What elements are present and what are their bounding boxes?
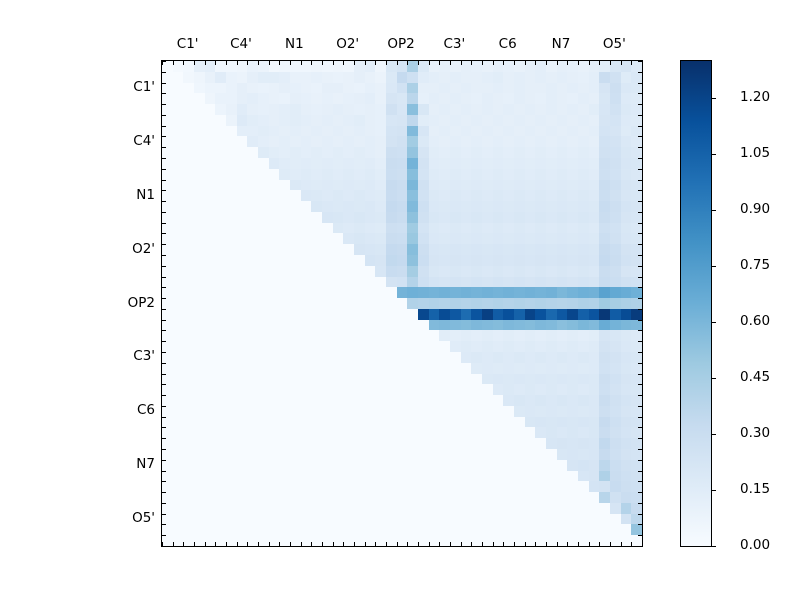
heatmap-cell: [418, 503, 429, 514]
heatmap-cell: [205, 514, 216, 525]
heatmap-cell: [269, 524, 280, 535]
heatmap-cell: [194, 417, 205, 428]
heatmap-cell: [418, 384, 429, 395]
heatmap-cell: [407, 255, 418, 266]
heatmap-cell: [631, 93, 642, 104]
x-tick: [183, 542, 184, 546]
heatmap-cell: [503, 395, 514, 406]
heatmap-cell: [610, 330, 621, 341]
heatmap-cell: [567, 169, 578, 180]
heatmap-cell: [557, 395, 568, 406]
heatmap-cell: [162, 126, 173, 137]
y-tick: [162, 492, 166, 493]
heatmap-cell: [269, 449, 280, 460]
heatmap-cell: [354, 61, 365, 72]
heatmap-cell: [290, 406, 301, 417]
heatmap-cell: [407, 233, 418, 244]
heatmap-cell: [397, 104, 408, 115]
x-tick: [311, 542, 312, 546]
heatmap-cell: [343, 395, 354, 406]
heatmap-cell: [525, 212, 536, 223]
heatmap-cell: [269, 298, 280, 309]
heatmap-cell: [407, 417, 418, 428]
heatmap-cell: [247, 298, 258, 309]
heatmap-cell: [546, 158, 557, 169]
heatmap-cell: [557, 169, 568, 180]
y-tick: [638, 212, 642, 213]
heatmap-cell: [514, 115, 525, 126]
heatmap-cell: [354, 72, 365, 83]
heatmap-cell: [194, 136, 205, 147]
heatmap-cell: [631, 223, 642, 234]
heatmap-cell: [525, 320, 536, 331]
heatmap-cell: [343, 223, 354, 234]
x-tick: [642, 542, 643, 546]
heatmap-cell: [386, 320, 397, 331]
heatmap-cell: [429, 201, 440, 212]
heatmap-cell: [535, 93, 546, 104]
heatmap-cell: [535, 104, 546, 115]
heatmap-cell: [343, 147, 354, 158]
heatmap-cell: [311, 438, 322, 449]
heatmap-cell: [301, 460, 312, 471]
heatmap-cell: [461, 298, 472, 309]
heatmap-cell: [482, 61, 493, 72]
x-tick: [482, 61, 483, 65]
heatmap-cell: [567, 535, 578, 546]
heatmap-cell: [450, 147, 461, 158]
heatmap-cell: [418, 460, 429, 471]
heatmap-cell: [599, 233, 610, 244]
heatmap-cell: [194, 180, 205, 191]
heatmap-cell: [375, 363, 386, 374]
heatmap-cell: [375, 384, 386, 395]
heatmap-cell: [578, 233, 589, 244]
heatmap-cell: [557, 535, 568, 546]
x-tick-label: N1: [285, 36, 304, 52]
heatmap-cell: [589, 374, 600, 385]
heatmap-cell: [226, 524, 237, 535]
heatmap-cell: [589, 126, 600, 137]
heatmap-cell: [439, 374, 450, 385]
heatmap-cell: [386, 427, 397, 438]
heatmap-cell: [333, 395, 344, 406]
heatmap-cell: [471, 449, 482, 460]
heatmap-cell: [258, 93, 269, 104]
heatmap-cell: [290, 417, 301, 428]
heatmap-cell: [322, 481, 333, 492]
heatmap-cell: [503, 169, 514, 180]
heatmap-cell: [215, 212, 226, 223]
heatmap-cell: [375, 320, 386, 331]
heatmap-cell: [621, 309, 632, 320]
x-tick: [439, 542, 440, 546]
heatmap-cell: [226, 471, 237, 482]
heatmap-cell: [599, 266, 610, 277]
heatmap-cell: [557, 492, 568, 503]
heatmap-cell: [386, 136, 397, 147]
heatmap-cell: [514, 374, 525, 385]
x-tick: [546, 542, 547, 546]
heatmap-cell: [557, 72, 568, 83]
y-tick: [638, 115, 642, 116]
heatmap-cell: [226, 352, 237, 363]
heatmap-cell: [365, 524, 376, 535]
heatmap-cell: [279, 287, 290, 298]
heatmap-cell: [567, 374, 578, 385]
heatmap-cell: [386, 395, 397, 406]
heatmap-cell: [589, 158, 600, 169]
heatmap-cell: [631, 180, 642, 191]
heatmap-cell: [493, 61, 504, 72]
x-tick: [493, 542, 494, 546]
heatmap-cell: [279, 93, 290, 104]
heatmap-cell: [247, 147, 258, 158]
heatmap-cell: [162, 492, 173, 503]
heatmap-cell: [471, 201, 482, 212]
heatmap-cell: [343, 61, 354, 72]
heatmap-cell: [578, 514, 589, 525]
heatmap-cell: [258, 514, 269, 525]
heatmap-cell: [461, 61, 472, 72]
heatmap-cell: [226, 503, 237, 514]
heatmap-cell: [173, 223, 184, 234]
heatmap-cell: [439, 341, 450, 352]
heatmap-cell: [311, 449, 322, 460]
heatmap-cell: [205, 72, 216, 83]
heatmap-cell: [322, 427, 333, 438]
heatmap-cell: [631, 406, 642, 417]
heatmap-cell: [599, 93, 610, 104]
heatmap-cell: [322, 255, 333, 266]
heatmap-cell: [631, 147, 642, 158]
heatmap-cell: [557, 201, 568, 212]
heatmap-cell: [418, 61, 429, 72]
x-tick: [429, 61, 430, 65]
heatmap-cell: [621, 212, 632, 223]
heatmap-cell: [162, 395, 173, 406]
heatmap-cell: [365, 244, 376, 255]
heatmap-cell: [258, 341, 269, 352]
heatmap-cell: [621, 233, 632, 244]
heatmap-cell: [354, 320, 365, 331]
heatmap-cell: [621, 320, 632, 331]
x-tick: [567, 542, 568, 546]
heatmap-cell: [525, 492, 536, 503]
heatmap-cell: [194, 427, 205, 438]
heatmap-cell: [567, 330, 578, 341]
heatmap-cell: [578, 277, 589, 288]
x-tick: [279, 61, 280, 65]
heatmap-cell: [343, 136, 354, 147]
heatmap-cell: [343, 93, 354, 104]
heatmap-cell: [450, 471, 461, 482]
heatmap-cell: [493, 417, 504, 428]
heatmap-cell: [333, 438, 344, 449]
heatmap-cell: [301, 126, 312, 137]
heatmap-cell: [301, 492, 312, 503]
heatmap-cell: [589, 61, 600, 72]
heatmap-cell: [375, 72, 386, 83]
heatmap-cell: [599, 223, 610, 234]
heatmap-cell: [514, 503, 525, 514]
heatmap-cell: [183, 535, 194, 546]
y-tick: [638, 374, 642, 375]
heatmap-cell: [439, 83, 450, 94]
heatmap-cell: [173, 180, 184, 191]
heatmap-cell: [557, 503, 568, 514]
heatmap-cell: [525, 180, 536, 191]
heatmap-cell: [631, 492, 642, 503]
heatmap-cell: [194, 223, 205, 234]
heatmap-cell: [162, 244, 173, 255]
heatmap-cell: [354, 169, 365, 180]
heatmap-cell: [471, 514, 482, 525]
heatmap-cell: [482, 352, 493, 363]
heatmap-cell: [557, 223, 568, 234]
heatmap-cell: [631, 503, 642, 514]
heatmap-cell: [343, 417, 354, 428]
heatmap-cell: [557, 406, 568, 417]
heatmap-cell: [546, 471, 557, 482]
y-tick: [638, 223, 642, 224]
heatmap-cell: [205, 524, 216, 535]
x-tick: [525, 61, 526, 65]
heatmap-cell: [290, 363, 301, 374]
x-tick: [461, 61, 462, 65]
heatmap-cell: [578, 201, 589, 212]
heatmap-cell: [258, 535, 269, 546]
heatmap-cell: [407, 320, 418, 331]
heatmap-cell: [567, 514, 578, 525]
heatmap-cell: [258, 233, 269, 244]
heatmap-cell: [450, 363, 461, 374]
heatmap-cell: [279, 136, 290, 147]
heatmap-cell: [418, 341, 429, 352]
heatmap-cell: [226, 233, 237, 244]
x-tick-label: O5': [603, 36, 626, 52]
y-tick: [162, 212, 166, 213]
heatmap-cell: [418, 93, 429, 104]
heatmap-cell: [354, 190, 365, 201]
heatmap-cell: [258, 449, 269, 460]
heatmap-cell: [461, 169, 472, 180]
y-tick: [638, 352, 642, 353]
y-tick: [162, 158, 166, 159]
heatmap-cell: [173, 212, 184, 223]
heatmap-cell: [546, 406, 557, 417]
heatmap-cell: [599, 460, 610, 471]
heatmap-cell: [503, 438, 514, 449]
heatmap-cell: [205, 147, 216, 158]
heatmap-cell: [514, 330, 525, 341]
heatmap-cell: [322, 330, 333, 341]
heatmap-cell: [567, 115, 578, 126]
heatmap-cell: [631, 395, 642, 406]
heatmap-cell: [631, 158, 642, 169]
heatmap-cell: [557, 352, 568, 363]
heatmap-cell: [610, 320, 621, 331]
heatmap-cell: [215, 363, 226, 374]
heatmap-cell: [631, 115, 642, 126]
heatmap-cell: [471, 330, 482, 341]
heatmap-cell: [546, 180, 557, 191]
heatmap-cell: [375, 417, 386, 428]
heatmap-cell: [173, 330, 184, 341]
heatmap-cell: [290, 277, 301, 288]
heatmap-cell: [226, 244, 237, 255]
heatmap-cell: [397, 223, 408, 234]
heatmap-cell: [269, 384, 280, 395]
heatmap-cell: [493, 158, 504, 169]
heatmap-cell: [311, 93, 322, 104]
heatmap-cell: [290, 126, 301, 137]
heatmap-cell: [557, 136, 568, 147]
heatmap-cell: [567, 244, 578, 255]
heatmap-cell: [631, 212, 642, 223]
heatmap-cell: [343, 374, 354, 385]
y-tick: [638, 126, 642, 127]
heatmap-cell: [237, 449, 248, 460]
y-tick: [638, 233, 642, 234]
heatmap-cell: [471, 83, 482, 94]
heatmap-cell: [375, 169, 386, 180]
x-tick: [226, 61, 227, 65]
heatmap-cell: [333, 374, 344, 385]
heatmap-cell: [269, 514, 280, 525]
heatmap-cell: [247, 287, 258, 298]
heatmap-cell: [290, 115, 301, 126]
heatmap-cell: [397, 438, 408, 449]
heatmap-cell: [311, 535, 322, 546]
heatmap-cell: [386, 384, 397, 395]
heatmap-cell: [557, 427, 568, 438]
heatmap-cell: [290, 471, 301, 482]
heatmap-cell: [162, 169, 173, 180]
heatmap-cell: [610, 115, 621, 126]
heatmap-cell: [493, 460, 504, 471]
heatmap-cell: [386, 104, 397, 115]
heatmap-cell: [354, 406, 365, 417]
y-tick: [162, 471, 166, 472]
heatmap-cell: [354, 201, 365, 212]
heatmap-cell: [301, 320, 312, 331]
heatmap-cell: [482, 169, 493, 180]
heatmap-cell: [578, 158, 589, 169]
heatmap-cell: [365, 384, 376, 395]
heatmap-cell: [333, 61, 344, 72]
heatmap-cell: [183, 481, 194, 492]
heatmap-cell: [514, 72, 525, 83]
heatmap-cell: [578, 298, 589, 309]
heatmap-cell: [610, 136, 621, 147]
heatmap-cell: [525, 341, 536, 352]
heatmap-cell: [493, 266, 504, 277]
heatmap-cell: [503, 406, 514, 417]
heatmap-cell: [525, 72, 536, 83]
heatmap-figure: C1'C4'N1O2'OP2C3'C6N7O5' C1'C4'N1O2'OP2C…: [0, 0, 800, 600]
x-tick: [578, 61, 579, 65]
heatmap-cell: [194, 503, 205, 514]
heatmap-cell: [247, 223, 258, 234]
heatmap-cell: [461, 180, 472, 191]
heatmap-cell: [578, 244, 589, 255]
heatmap-cell: [375, 233, 386, 244]
heatmap-cell: [375, 460, 386, 471]
heatmap-cell: [589, 395, 600, 406]
heatmap-cell: [194, 158, 205, 169]
heatmap-cell: [450, 223, 461, 234]
heatmap-cell: [599, 83, 610, 94]
heatmap-cell: [439, 93, 450, 104]
heatmap-cell: [557, 158, 568, 169]
heatmap-cell: [514, 406, 525, 417]
heatmap-cell: [599, 244, 610, 255]
heatmap-cell: [301, 341, 312, 352]
heatmap-cell: [365, 169, 376, 180]
heatmap-cell: [162, 481, 173, 492]
heatmap-cell: [226, 395, 237, 406]
heatmap-cell: [429, 61, 440, 72]
heatmap-axes: [161, 60, 643, 547]
heatmap-cell: [439, 287, 450, 298]
heatmap-cell: [461, 438, 472, 449]
heatmap-cell: [482, 481, 493, 492]
heatmap-cell: [301, 72, 312, 83]
heatmap-cell: [493, 492, 504, 503]
heatmap-cell: [290, 438, 301, 449]
x-tick: [621, 542, 622, 546]
y-tick: [638, 320, 642, 321]
heatmap-cell: [461, 503, 472, 514]
heatmap-cell: [450, 417, 461, 428]
heatmap-cell: [333, 384, 344, 395]
heatmap-cell: [514, 492, 525, 503]
x-tick-label: C1': [177, 36, 199, 52]
heatmap-cell: [386, 61, 397, 72]
y-tick: [162, 277, 166, 278]
heatmap-cell: [343, 352, 354, 363]
heatmap-cell: [290, 535, 301, 546]
heatmap-cell: [578, 427, 589, 438]
heatmap-cell: [599, 212, 610, 223]
heatmap-cell: [269, 255, 280, 266]
heatmap-cell: [535, 115, 546, 126]
heatmap-cell: [237, 190, 248, 201]
heatmap-cell: [183, 427, 194, 438]
heatmap-cell: [557, 471, 568, 482]
heatmap-cell: [461, 212, 472, 223]
heatmap-cell: [386, 309, 397, 320]
heatmap-cell: [226, 309, 237, 320]
heatmap-cell: [397, 471, 408, 482]
heatmap-cell: [514, 287, 525, 298]
heatmap-cell: [482, 266, 493, 277]
heatmap-cell: [322, 115, 333, 126]
heatmap-cell: [589, 244, 600, 255]
heatmap-cell: [162, 374, 173, 385]
heatmap-cell: [514, 212, 525, 223]
heatmap-cell: [482, 83, 493, 94]
heatmap-cell: [599, 201, 610, 212]
heatmap-cell: [226, 190, 237, 201]
heatmap-cell: [333, 524, 344, 535]
heatmap-cell: [567, 190, 578, 201]
y-tick-label: N7: [136, 456, 155, 472]
heatmap-cell: [269, 471, 280, 482]
heatmap-cell: [407, 406, 418, 417]
colorbar-tick: [711, 154, 716, 155]
